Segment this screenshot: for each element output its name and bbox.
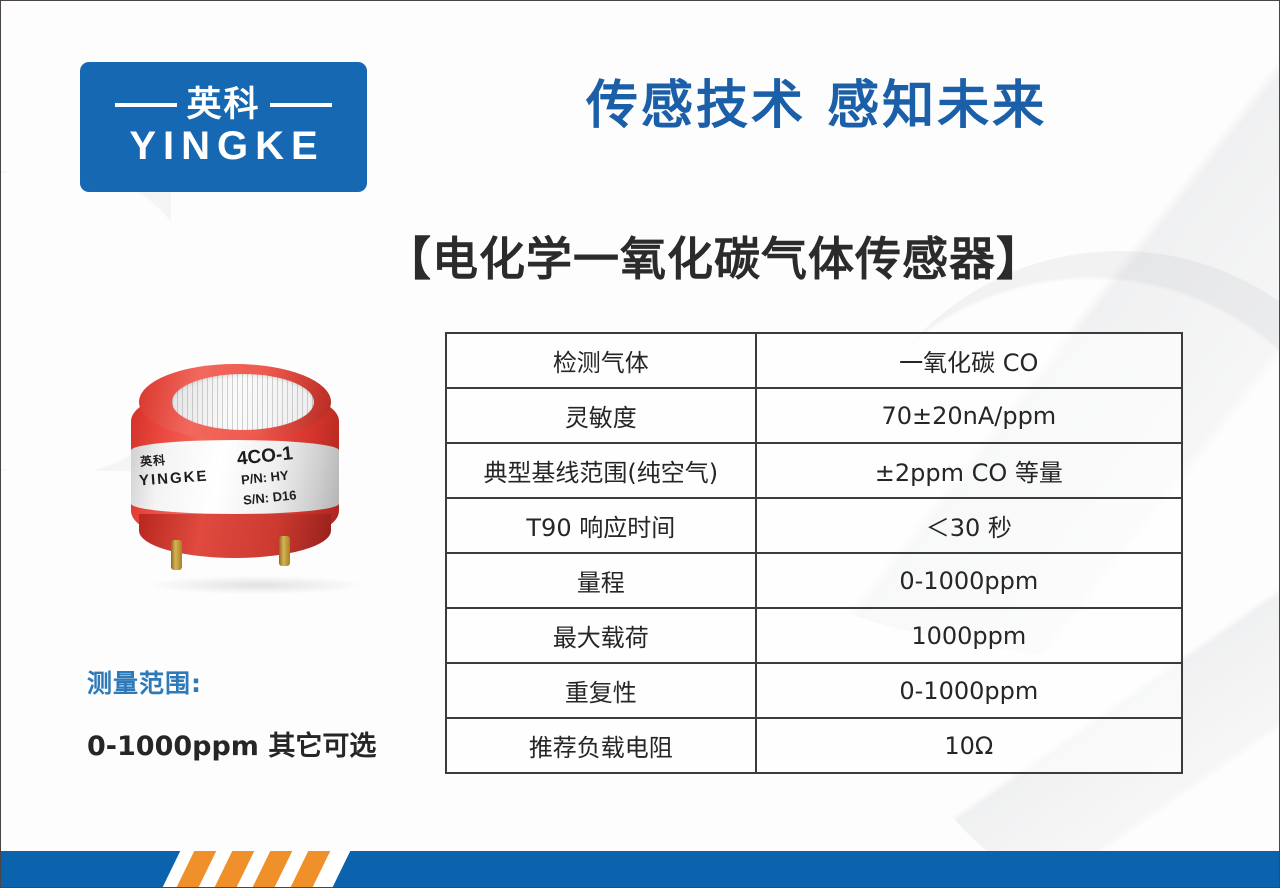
sensor-shadow <box>149 576 365 594</box>
sensor-illustration: 英科 YINGKE 4CO-1 P/N: HY S/N: D16 <box>131 364 339 564</box>
spec-key: T90 响应时间 <box>446 498 756 553</box>
spec-value: 1000ppm <box>756 608 1182 663</box>
spec-key: 推荐负载电阻 <box>446 718 756 773</box>
spec-key: 量程 <box>446 553 756 608</box>
sensor-top-ring <box>139 364 331 440</box>
logo-rule-right-icon <box>270 103 332 107</box>
spec-value: ±2ppm CO 等量 <box>756 443 1182 498</box>
logo-rule-left-icon <box>115 103 177 107</box>
spec-value: 一氧化碳 CO <box>756 333 1182 388</box>
specification-table: 检测气体 一氧化碳 CO 灵敏度 70±20nA/ppm 典型基线范围(纯空气)… <box>445 332 1183 774</box>
sensor-label-cn: 英科 <box>139 451 166 470</box>
product-spec-page: 英科 YINGKE 传感技术 感知未来 【电化学一氧化碳气体传感器】 英科 YI… <box>0 0 1280 888</box>
spec-value: 0-1000ppm <box>756 553 1182 608</box>
sensor-label-band: 英科 YINGKE 4CO-1 P/N: HY S/N: D16 <box>131 440 339 514</box>
sensor-label-text: 英科 YINGKE 4CO-1 P/N: HY S/N: D16 <box>131 440 339 514</box>
spec-value: ＜30 秒 <box>756 498 1182 553</box>
table-row: 灵敏度 70±20nA/ppm <box>446 388 1182 443</box>
sensor-label-en: YINGKE <box>138 468 209 490</box>
brand-logo: 英科 YINGKE <box>80 62 367 192</box>
footer-bar <box>1 851 1279 887</box>
table-row: 最大载荷 1000ppm <box>446 608 1182 663</box>
sensor-pin-right <box>279 536 290 566</box>
header-slogan: 传感技术 感知未来 <box>586 63 1047 138</box>
sensor-membrane <box>172 374 314 430</box>
footer-stripe <box>288 851 332 887</box>
sensor-base-lip <box>139 514 331 558</box>
footer-stripe <box>212 851 256 887</box>
footer-stripe <box>174 851 218 887</box>
sensor-label-part-number: P/N: HY <box>240 468 289 488</box>
table-row: 检测气体 一氧化碳 CO <box>446 333 1182 388</box>
spec-key: 检测气体 <box>446 333 756 388</box>
measurement-range-label: 测量范围: <box>87 664 202 700</box>
product-photo: 英科 YINGKE 4CO-1 P/N: HY S/N: D16 <box>109 346 379 611</box>
table-row: T90 响应时间 ＜30 秒 <box>446 498 1182 553</box>
spec-key: 典型基线范围(纯空气) <box>446 443 756 498</box>
measurement-range-value: 0-1000ppm 其它可选 <box>87 724 376 763</box>
specification-table-body: 检测气体 一氧化碳 CO 灵敏度 70±20nA/ppm 典型基线范围(纯空气)… <box>446 333 1182 773</box>
sensor-pin-left <box>171 540 182 570</box>
sensor-label-serial-number: S/N: D16 <box>242 487 297 508</box>
table-row: 重复性 0-1000ppm <box>446 663 1182 718</box>
logo-english-name: YINGKE <box>122 125 324 167</box>
spec-key: 灵敏度 <box>446 388 756 443</box>
spec-key: 重复性 <box>446 663 756 718</box>
footer-stripe-plate <box>160 851 352 887</box>
logo-chinese-name: 英科 <box>186 88 260 123</box>
spec-key: 最大载荷 <box>446 608 756 663</box>
page-title: 【电化学一氧化碳气体传感器】 <box>1 223 1279 289</box>
table-row: 量程 0-1000ppm <box>446 553 1182 608</box>
spec-value: 0-1000ppm <box>756 663 1182 718</box>
logo-top-row: 英科 <box>115 88 331 123</box>
spec-value: 10Ω <box>756 718 1182 773</box>
table-row: 典型基线范围(纯空气) ±2ppm CO 等量 <box>446 443 1182 498</box>
spec-value: 70±20nA/ppm <box>756 388 1182 443</box>
footer-stripe <box>250 851 294 887</box>
table-row: 推荐负载电阻 10Ω <box>446 718 1182 773</box>
sensor-label-model: 4CO-1 <box>236 443 294 471</box>
